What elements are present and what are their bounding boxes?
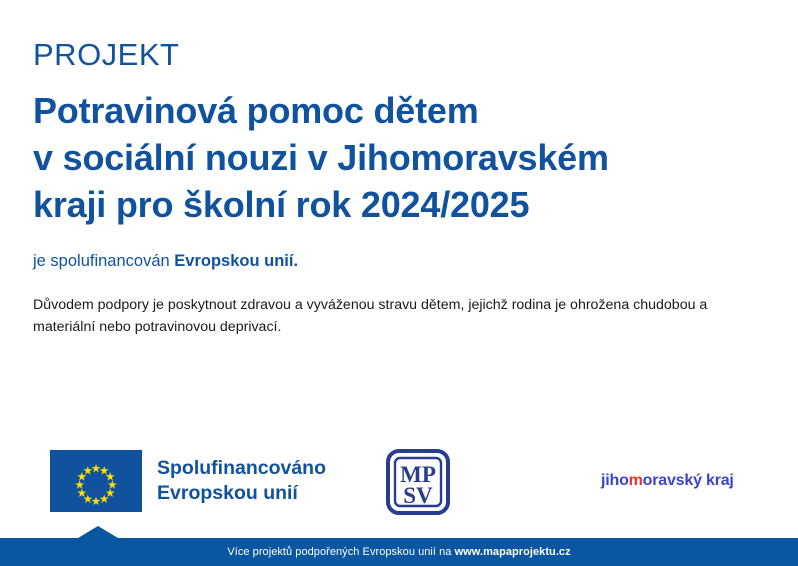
jihomoravsky-kraj-logo: jihomoravský kraj [601,472,734,490]
mpsv-text-sv: SV [403,483,433,508]
footer-link[interactable]: www.mapaprojektu.cz [455,546,571,558]
jmk-accent-letter: m [629,472,643,489]
footer-bar: Více projektů podpořených Evropskou unií… [0,538,798,566]
footer-text: Více projektů podpořených Evropskou unií… [0,538,798,566]
funding-subtitle-strong: Evropskou unií. [174,252,298,270]
title-line-1: Potravinová pomoc dětem [33,88,733,135]
eu-cofunding-label: Spolufinancováno Evropskou unií [157,456,326,505]
footer-pointer-triangle [78,526,118,538]
title-line-2: v sociální nouzi v Jihomoravském [33,135,733,182]
eu-label-line-2: Evropskou unií [157,481,326,506]
footer-text-prefix: Více projektů podpořených Evropskou unií… [227,546,454,558]
eu-cofunding-logo: Spolufinancováno Evropskou unií [50,450,326,512]
eu-label-line-1: Spolufinancováno [157,456,326,481]
jmk-part-2: oravský kraj [643,472,734,489]
description-paragraph: Důvodem podpory je poskytnout zdravou a … [33,295,773,338]
funding-subtitle: je spolufinancován Evropskou unií. [33,252,773,272]
funding-subtitle-prefix: je spolufinancován [33,252,174,270]
jmk-part-1: jiho [601,472,629,489]
eu-flag-icon [50,450,142,512]
poster-content: PROJEKT Potravinová pomoc dětem v sociál… [33,38,773,338]
mpsv-logo: MP SV [386,449,450,515]
poster-eyebrow: PROJEKT [33,38,773,72]
mpsv-logo-icon: MP SV [386,449,450,515]
logo-row: Spolufinancováno Evropskou unií MP SV ji… [0,446,798,518]
title-line-3: kraji pro školní rok 2024/2025 [33,182,733,229]
page-title: Potravinová pomoc dětem v sociální nouzi… [33,88,733,228]
project-poster: PROJEKT Potravinová pomoc dětem v sociál… [0,0,798,566]
